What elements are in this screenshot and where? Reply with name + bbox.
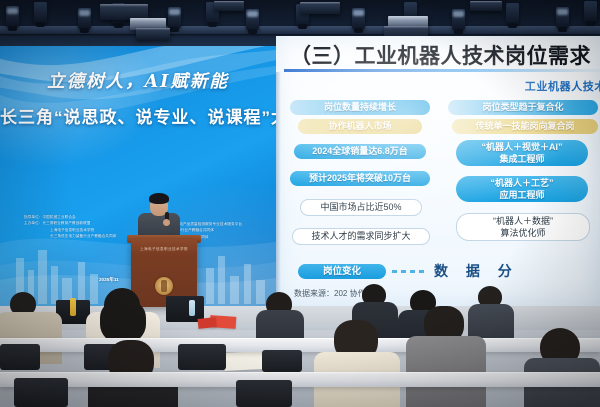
slide-item: “机器人＋数据” 算法优化师: [456, 213, 590, 241]
stage-light: [78, 8, 91, 29]
speaker-hair: [149, 193, 169, 204]
slide-source-note: 数据来源：202 协作: [294, 288, 366, 299]
slide-item: 中国市场占比近50%: [300, 199, 422, 216]
slide-item-line1: “机器人＋数据”: [457, 215, 589, 227]
sponsor-line: 长三角低压电力装备行业产教融合共同体: [24, 233, 117, 239]
drink-bottle: [189, 300, 195, 316]
stage-light: [34, 2, 47, 23]
event-date: 2025年11: [99, 277, 119, 283]
ceiling-panel: [470, 1, 502, 11]
footer-label: 数 据 分: [434, 261, 519, 281]
slide-title: （三）工业机器人技术岗位需求: [290, 40, 600, 70]
slide-title-rule: [284, 69, 600, 72]
slide-item: 预计2025年将突破10万台: [290, 171, 430, 186]
stage-light: [246, 9, 259, 30]
ceiling-panel: [136, 28, 170, 40]
projected-slide: （三）工业机器人技术岗位需求 工业机器人技术 岗位数量持续增长 协作机器人市场 …: [276, 36, 600, 306]
stage-light: [6, 6, 19, 27]
slide-item: “机器人＋工艺” 应用工程师: [456, 176, 588, 202]
audience-chair: [236, 380, 292, 407]
slide-item: 2024全球销量达6.8万台: [294, 144, 426, 159]
audience-chair: [0, 344, 40, 370]
event-headline-main: 立德树人，AI赋新能: [0, 68, 276, 93]
column-header-left: 岗位数量持续增长: [290, 100, 430, 115]
column-subheader-left: 协作机器人市场: [298, 119, 422, 134]
podium-emblem: [155, 277, 173, 295]
slide-item-line1: “机器人＋工艺”: [456, 177, 588, 189]
stage-light: [352, 8, 365, 29]
slide-item-line1: “机器人＋视觉＋AI”: [456, 141, 588, 153]
slide-left-shadow: [276, 72, 281, 306]
screenshot-root: 立德树人，AI赋新能 长三角“说思政、说专业、说课程”大赛 指导单位：中国机械工…: [0, 0, 600, 407]
drink-bottle: [70, 298, 76, 316]
sponsors-left: 指导单位：中国机械工业联合会 主办单位：长三角职业教育产教创新联盟 上海电子信息…: [24, 214, 117, 240]
audience-chair: [262, 350, 302, 372]
speaker-hand: [163, 219, 170, 226]
slide-item-line2: 集成工程师: [456, 153, 588, 165]
stage-light: [452, 9, 465, 30]
event-headline-sub: 长三角“说思政、说专业、说课程”大赛: [0, 103, 276, 128]
stage-light: [556, 7, 569, 28]
audience-chair: [178, 344, 226, 370]
column-header-right: 岗位类型趋于复合化: [448, 100, 598, 115]
footer-tag: 岗位变化: [298, 264, 386, 279]
ceiling-panel: [214, 1, 244, 11]
slide-item-line2: 算法优化师: [457, 227, 589, 239]
podium-inscription: 上海电子信息职业技术学院: [131, 247, 197, 252]
slide-item-line2: 应用工程师: [456, 189, 588, 201]
audience-desk: [0, 372, 600, 387]
stage-light: [168, 7, 181, 28]
paper-sheet: [224, 351, 265, 371]
audience-chair: [14, 378, 68, 407]
red-folder: [198, 317, 217, 329]
slide-item: 技术人才的需求同步扩大: [292, 228, 430, 245]
column-subheader-right: 传统单一技能岗向复合岗: [452, 119, 598, 134]
stage-light: [506, 3, 519, 24]
footer-dotted-connector: [392, 270, 428, 273]
slide-subtitle: 工业机器人技术: [525, 78, 600, 94]
ceiling-panel: [300, 2, 340, 14]
stage-light: [584, 1, 597, 22]
slide-item: “机器人＋视觉＋AI” 集成工程师: [456, 140, 588, 166]
